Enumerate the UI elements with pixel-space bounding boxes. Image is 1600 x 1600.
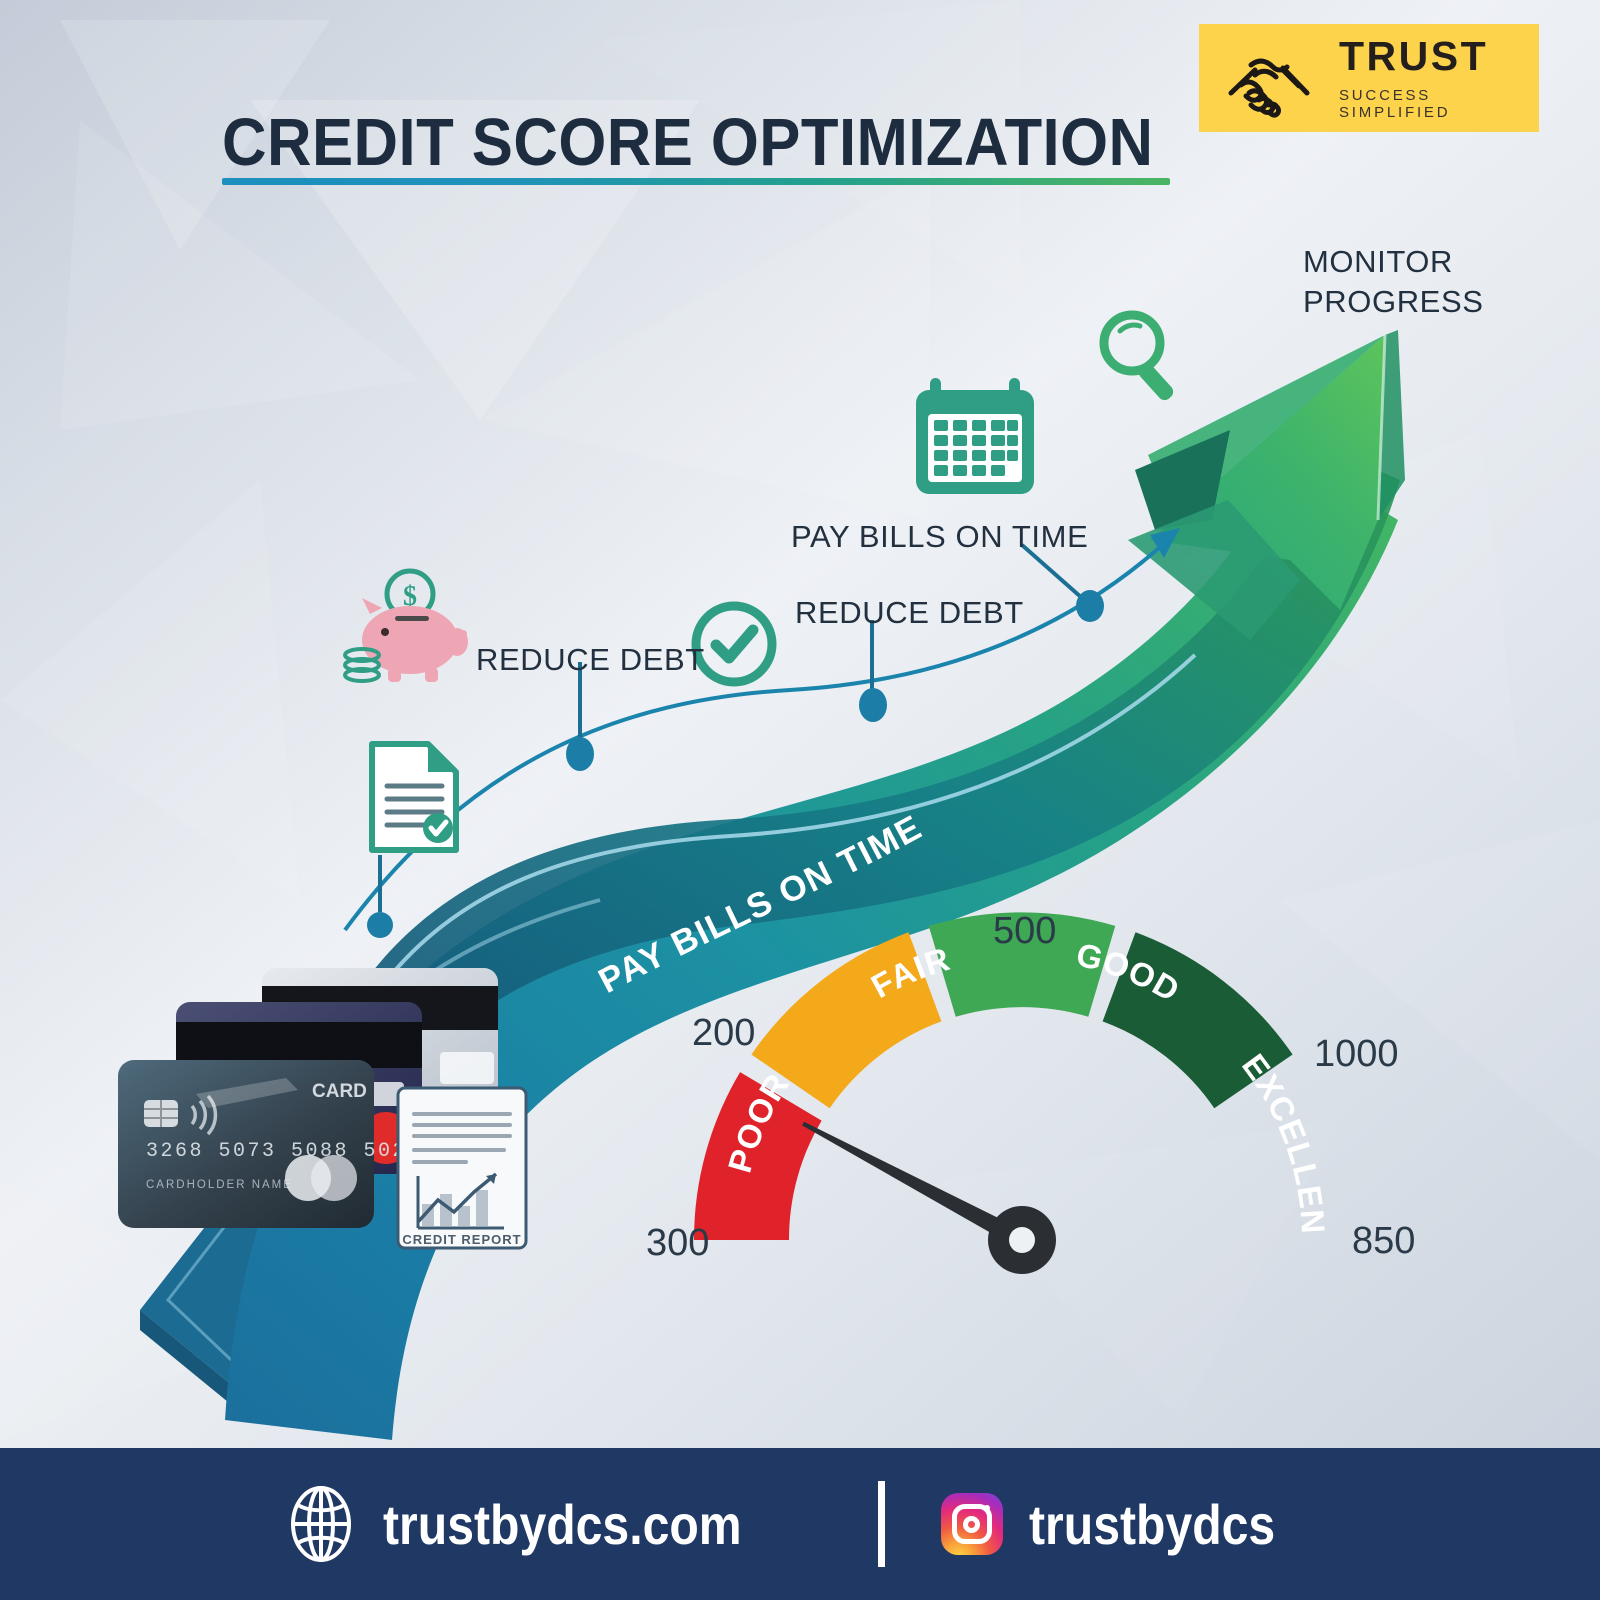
footer-website[interactable]: trustbydcs.com bbox=[285, 1484, 800, 1564]
gauge-needle bbox=[799, 1116, 1019, 1245]
gauge-tick-1000: 1000 bbox=[1314, 1033, 1399, 1076]
instagram-icon bbox=[941, 1493, 1003, 1555]
globe-icon bbox=[285, 1484, 357, 1564]
gauge-label-excellent: EXCELLENT bbox=[1011, 1047, 1332, 1247]
website-label: trustbydcs.com bbox=[383, 1492, 742, 1557]
footer-bar: trustbydcs.com trustbydcs bbox=[0, 1448, 1600, 1600]
gauge-tick-500: 500 bbox=[993, 910, 1056, 953]
footer-divider bbox=[878, 1481, 885, 1567]
instagram-label: trustbydcs bbox=[1029, 1492, 1275, 1557]
footer-instagram[interactable]: trustbydcs bbox=[941, 1492, 1315, 1557]
gauge-tick-200: 200 bbox=[692, 1012, 755, 1055]
credit-score-gauge: POOR FAIR GOOD EXCELLENT bbox=[0, 0, 1600, 1600]
infographic-canvas: PAY BILLS ON TIME TRUST SUCCESS SIMPLIFI… bbox=[0, 0, 1600, 1600]
gauge-tick-850: 850 bbox=[1352, 1220, 1415, 1263]
gauge-tick-300: 300 bbox=[646, 1222, 709, 1265]
